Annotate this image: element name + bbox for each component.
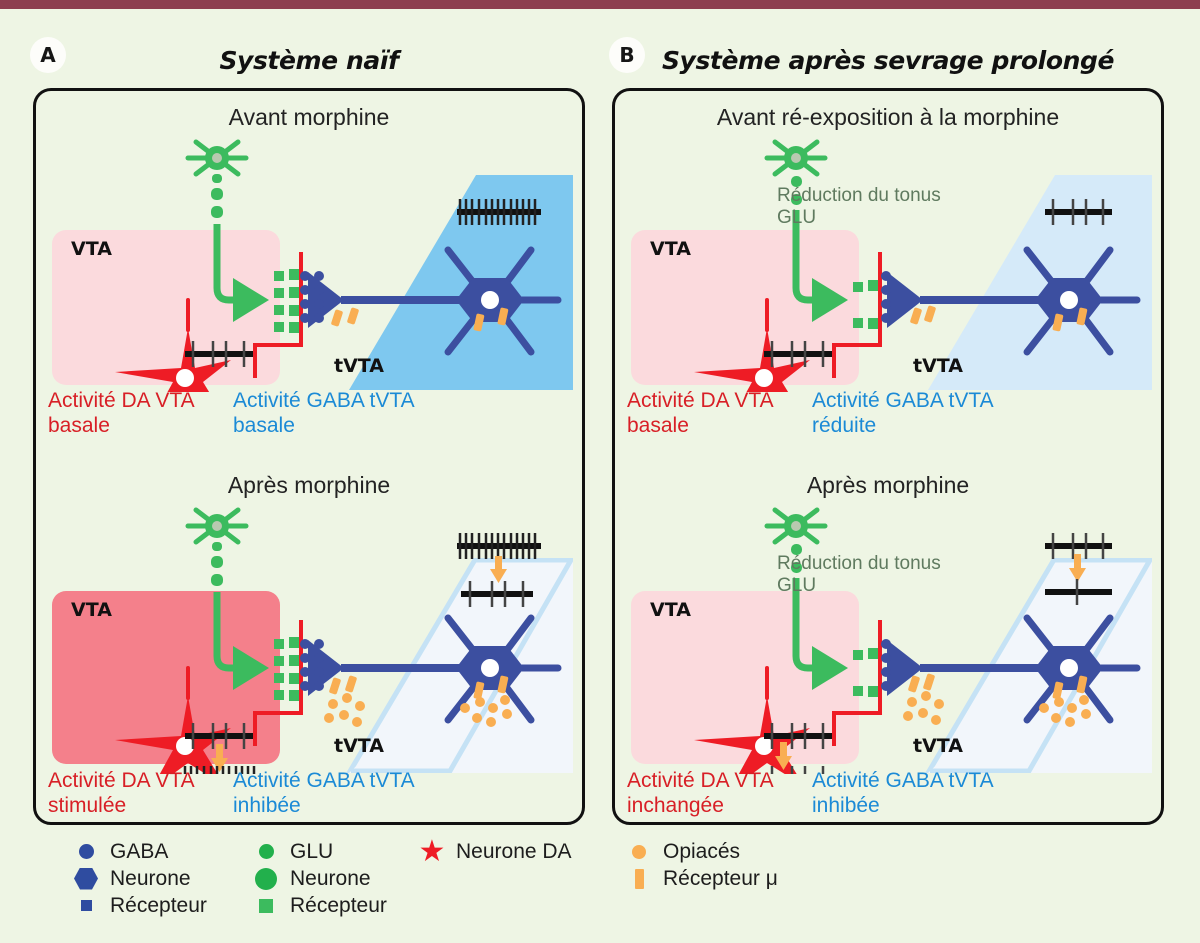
glu-receptor-square-icon	[252, 899, 280, 913]
activity-change-arrow-icon	[490, 556, 507, 583]
gaba-activity-trace-after	[461, 581, 533, 607]
panel-b-row-1-glu-note: Réduction du tonus GLU	[777, 553, 941, 597]
opiate-molecules-icon	[324, 693, 365, 727]
mu-receptor-icon	[910, 305, 937, 325]
legend-item: Récepteur	[72, 892, 207, 919]
mu-receptor-bar-icon	[625, 869, 653, 889]
panel-a-row-1-caption-gaba: Activité GABA tVTA inhibée	[233, 768, 415, 818]
panel-a-row-1-circuit	[33, 496, 585, 774]
panel-a-row-0-circuit	[33, 130, 585, 392]
opiate-molecules-icon	[903, 691, 944, 725]
legend-item: Opiacés	[625, 838, 778, 865]
legend-item: Récepteur μ	[625, 865, 778, 892]
legend-item: GABA	[72, 838, 207, 865]
panel-b-row-0-heading: Avant ré-exposition à la morphine	[612, 104, 1164, 131]
legend-gaba-column: GABA Neurone Récepteur	[72, 838, 207, 919]
panel-b-row-0-caption-gaba: Activité GABA tVTA réduite	[812, 388, 994, 438]
panel-b-row-1-caption-gaba: Activité GABA tVTA inhibée	[812, 768, 994, 818]
legend-label: Neurone	[290, 867, 371, 891]
gaba-neuron-hexagon-icon	[72, 868, 100, 890]
panel-b-row-1-caption-da: Activité DA VTA inchangée	[627, 768, 774, 818]
legend-label: Récepteur μ	[663, 867, 778, 891]
glu-neuron-circle-icon	[252, 868, 280, 890]
opiate-dot-icon	[625, 845, 653, 859]
panel-b-row-1-heading: Après morphine	[612, 472, 1164, 499]
activity-change-arrow-icon	[1069, 554, 1086, 582]
gaba-receptor-square-icon	[72, 900, 100, 911]
panel-title-a: Système naïf	[33, 46, 585, 75]
legend-opioid-column: Opiacés Récepteur μ	[625, 838, 778, 892]
panel-b-row-1-circuit	[612, 496, 1164, 774]
panel-b-row-0-caption-da: Activité DA VTA basale	[627, 388, 774, 438]
panel-title-b: Système après sevrage prolongé	[612, 46, 1164, 75]
gaba-activity-trace-sparse	[1045, 199, 1112, 225]
gaba-activity-trace-after	[1045, 579, 1112, 605]
panel-a-row-1-caption-da: Activité DA VTA stimulée	[48, 768, 195, 818]
da-neuron-star-icon: ★	[418, 842, 446, 862]
legend-item: GLU	[252, 838, 387, 865]
mu-receptor-icon	[329, 675, 358, 695]
panel-a-row-1-heading: Après morphine	[33, 472, 585, 499]
legend-item: Neurone	[252, 865, 387, 892]
gaba-activity-trace-before	[457, 533, 541, 559]
legend-label: GABA	[110, 840, 168, 864]
legend-glu-column: GLU Neurone Récepteur	[252, 838, 387, 919]
panel-b-row-0-glu-note: Réduction du tonus GLU	[777, 185, 941, 229]
legend-item: Neurone	[72, 865, 207, 892]
panel-a-row-0-caption-gaba: Activité GABA tVTA basale	[233, 388, 415, 438]
legend-label: Neurone	[110, 867, 191, 891]
mu-receptor-icon	[331, 307, 360, 327]
legend-label: Opiacés	[663, 840, 740, 864]
top-accent-bar	[0, 0, 1200, 9]
legend-label: Récepteur	[290, 894, 387, 918]
glu-dot-icon	[252, 844, 280, 859]
legend-da-column: ★ Neurone DA	[418, 838, 572, 865]
gaba-activity-trace-dense	[457, 199, 541, 225]
panel-b-row-0-circuit	[612, 130, 1164, 392]
legend-item: ★ Neurone DA	[418, 838, 572, 865]
panel-a-row-0-caption-da: Activité DA VTA basale	[48, 388, 195, 438]
panel-a-row-0-heading: Avant morphine	[33, 104, 585, 131]
gaba-dot-icon	[72, 844, 100, 859]
legend-label: GLU	[290, 840, 333, 864]
legend-item: Récepteur	[252, 892, 387, 919]
legend-label: Neurone DA	[456, 840, 572, 864]
legend-label: Récepteur	[110, 894, 207, 918]
